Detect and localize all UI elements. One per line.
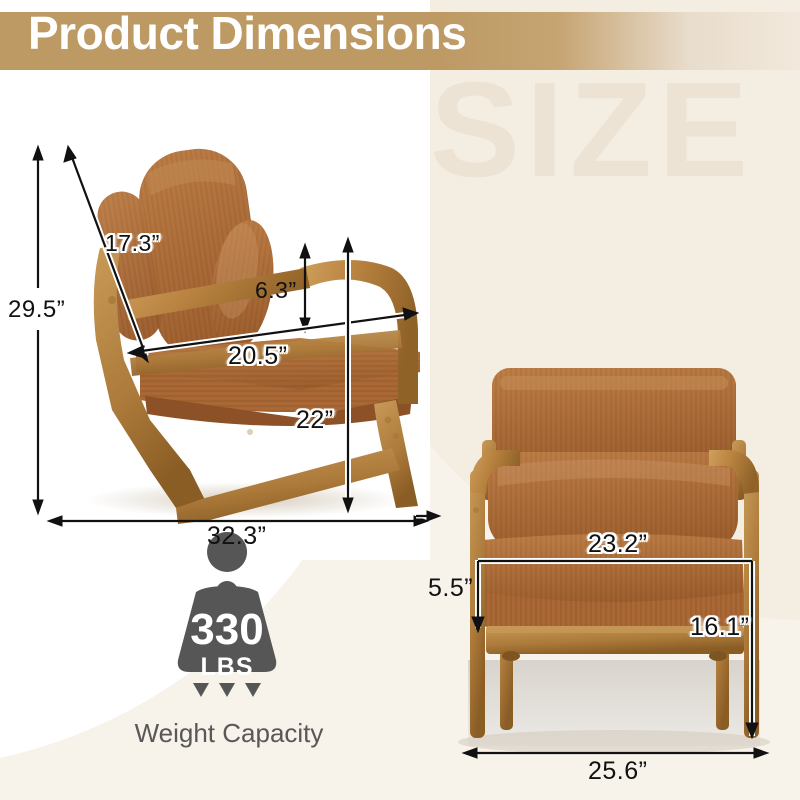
infographic-canvas: SIZE Product Dimensions — [0, 0, 800, 800]
dim-label-total-height: 29.5” — [8, 296, 65, 324]
weight-capacity-unit: LBS — [130, 655, 324, 680]
weight-capacity-number: 330 — [130, 608, 324, 652]
size-watermark: SIZE — [430, 62, 754, 197]
dim-label-seat-depth: 20.5” — [228, 342, 287, 371]
weight-capacity-badge: 330 LBS Weight Capacity — [130, 562, 390, 762]
dim-label-arm-height-from-floor: 22” — [296, 406, 334, 435]
weight-capacity-caption: Weight Capacity — [104, 720, 354, 746]
dim-label-arm-height-above-seat: 6.3” — [255, 277, 297, 304]
dim-label-backrest-length: 17.3” — [105, 230, 160, 257]
dim-label-seat-height: 16.1” — [690, 613, 749, 642]
dim-label-total-width: 25.6” — [588, 757, 647, 786]
dim-label-seat-width: 23.2” — [588, 530, 647, 559]
dim-label-total-depth: 32.3” — [207, 522, 266, 551]
dim-label-cushion-thickness: 5.5” — [428, 574, 473, 603]
page-title: Product Dimensions — [28, 10, 466, 56]
